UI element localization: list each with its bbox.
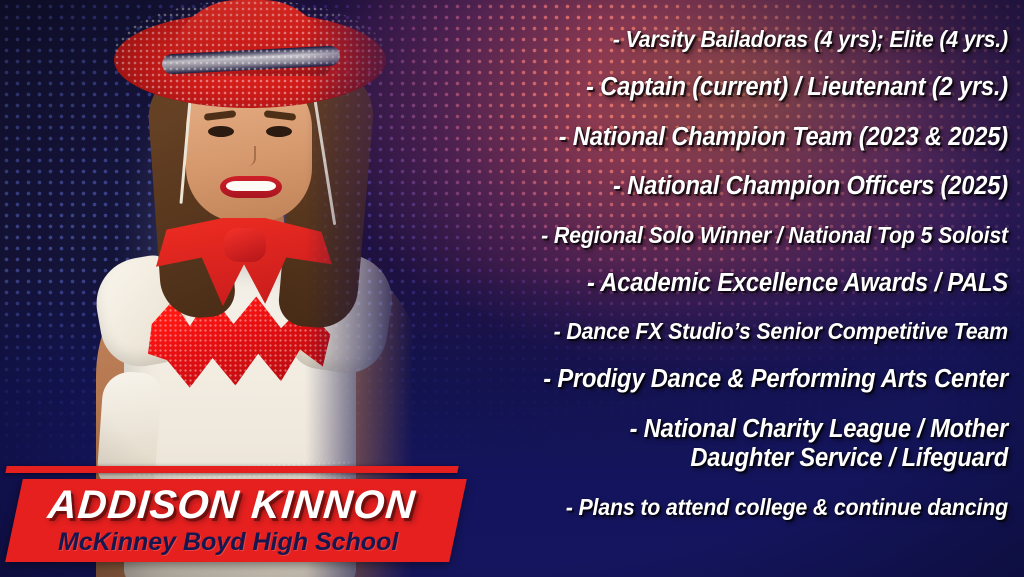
school-name: McKinney Boyd High School: [58, 530, 436, 555]
achievement-item: - National Champion Officers (2025): [413, 174, 1008, 200]
achievement-item: - Dance FX Studio’s Senior Competitive T…: [413, 320, 1008, 343]
achievement-list: - Varsity Bailadoras (4 yrs); Elite (4 y…: [368, 28, 1008, 543]
name-plate: ADDISON KINNON McKinney Boyd High School: [14, 479, 458, 562]
accent-rule: [5, 466, 458, 473]
achievement-item: - National Champion Team (2023 & 2025): [413, 125, 1008, 151]
achievement-item: - Academic Excellence Awards / PALS: [413, 271, 1008, 297]
achievement-item: - Varsity Bailadoras (4 yrs); Elite (4 y…: [413, 28, 1008, 51]
senior-spotlight-graphic: - Varsity Bailadoras (4 yrs); Elite (4 y…: [0, 0, 1024, 577]
achievement-item: - Prodigy Dance & Performing Arts Center: [413, 367, 1008, 393]
achievement-item: Daughter Service / Lifeguard: [413, 446, 1008, 472]
achievement-item: - Captain (current) / Lieutenant (2 yrs.…: [413, 75, 1008, 101]
achievement-item: - National Charity League / Mother: [413, 417, 1008, 443]
achievement-item: - Regional Solo Winner / National Top 5 …: [413, 224, 1008, 247]
achievement-item: - Plans to attend college & continue dan…: [413, 496, 1008, 519]
person-name: ADDISON KINNON: [46, 485, 437, 525]
